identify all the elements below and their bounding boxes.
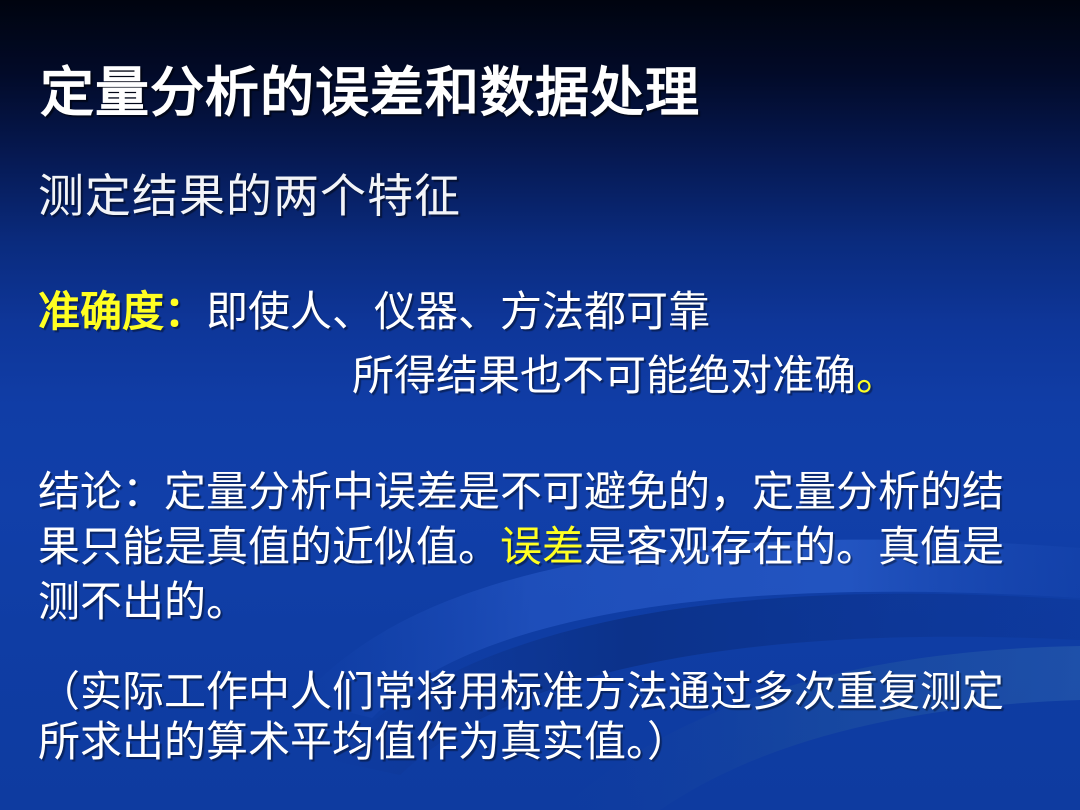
conclusion-text-1: 结论：定量分析中误差是不可避免的，定量分析的结	[38, 470, 1004, 516]
note-text-2: 所求出的算术平均值作为真实值。）	[38, 720, 689, 766]
accuracy-label: 准确度：	[38, 290, 206, 336]
conclusion-highlight-error: 误差	[500, 525, 584, 571]
accuracy-line: 准确度：即使人、仪器、方法都可靠	[38, 278, 710, 339]
conclusion-line-2: 果只能是真值的近似值。误差是客观存在的。真值是	[38, 513, 1004, 574]
presentation-slide: 定量分析的误差和数据处理 测定结果的两个特征 准确度：即使人、仪器、方法都可靠 …	[0, 0, 1080, 810]
conclusion-line-3: 测不出的。	[38, 568, 248, 629]
accuracy-continuation-text: 所得结果也不可能绝对准确	[352, 354, 856, 400]
conclusion-text-2a: 果只能是真值的近似值。	[38, 525, 500, 571]
accuracy-continuation-line: 所得结果也不可能绝对准确。	[352, 342, 898, 403]
conclusion-line-1: 结论：定量分析中误差是不可避免的，定量分析的结	[38, 458, 1004, 519]
slide-title: 定量分析的误差和数据处理	[40, 48, 700, 127]
accuracy-continuation-period: 。	[856, 354, 898, 400]
conclusion-text-3: 测不出的。	[38, 580, 248, 626]
conclusion-text-2b: 是客观存在的。真值是	[584, 525, 1004, 571]
accuracy-text: 即使人、仪器、方法都可靠	[206, 290, 710, 336]
slide-subtitle: 测定结果的两个特征	[38, 160, 461, 226]
note-line-2: 所求出的算术平均值作为真实值。）	[38, 708, 689, 769]
